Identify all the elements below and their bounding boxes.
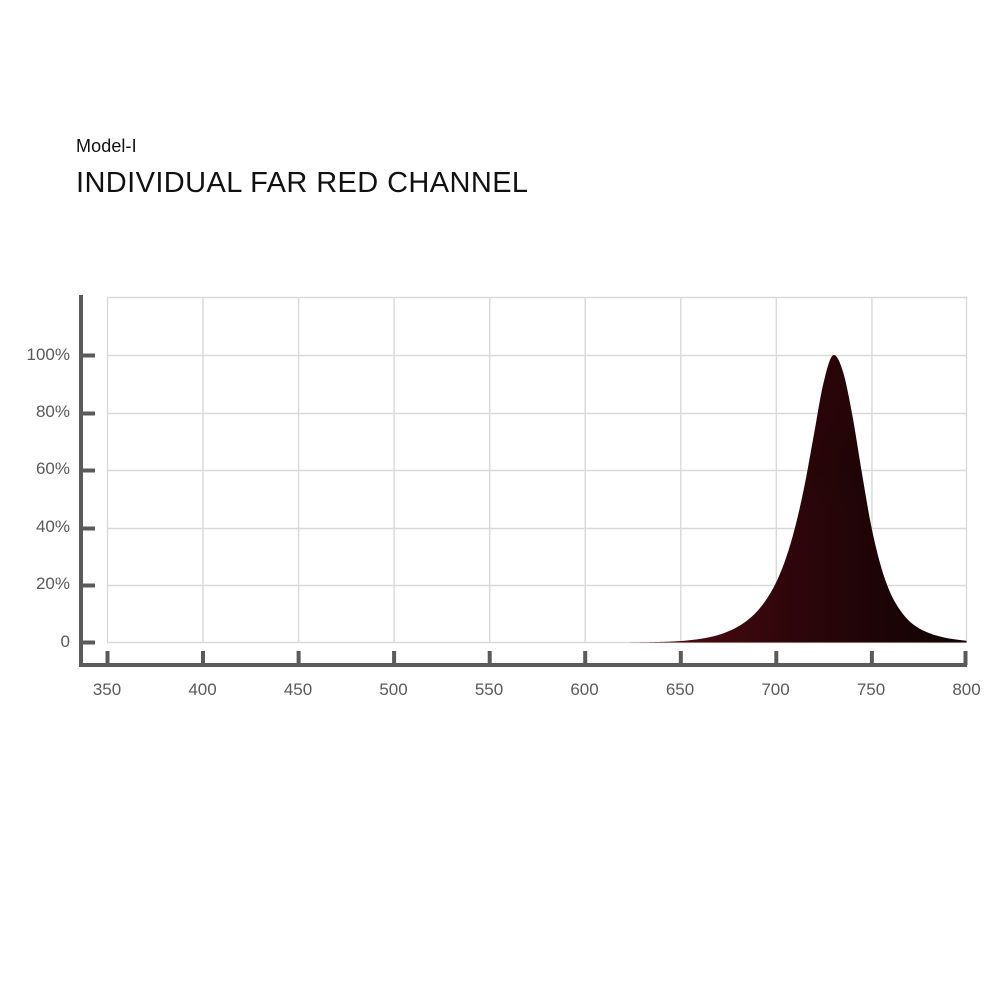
x-tick-label: 800 <box>927 680 1000 700</box>
x-tick-label: 550 <box>449 680 529 700</box>
y-axis-ticks <box>81 356 95 643</box>
spectrum-plot <box>0 0 1000 1000</box>
chart-figure: Model-I INDIVIDUAL FAR RED CHANNEL <box>0 0 1000 1000</box>
y-tick-label: 20% <box>0 574 70 594</box>
x-tick-label: 700 <box>736 680 816 700</box>
y-tick-label: 40% <box>0 517 70 537</box>
x-tick-label: 350 <box>67 680 147 700</box>
y-tick-label: 80% <box>0 402 70 422</box>
x-tick-label: 650 <box>640 680 720 700</box>
x-axis-ticks <box>108 651 966 665</box>
y-tick-label: 100% <box>0 345 70 365</box>
x-tick-label: 500 <box>354 680 434 700</box>
x-tick-label: 400 <box>163 680 243 700</box>
x-tick-label: 750 <box>831 680 911 700</box>
y-tick-label: 0 <box>0 632 70 652</box>
x-tick-label: 600 <box>545 680 625 700</box>
x-tick-label: 450 <box>258 680 338 700</box>
y-tick-label: 60% <box>0 459 70 479</box>
